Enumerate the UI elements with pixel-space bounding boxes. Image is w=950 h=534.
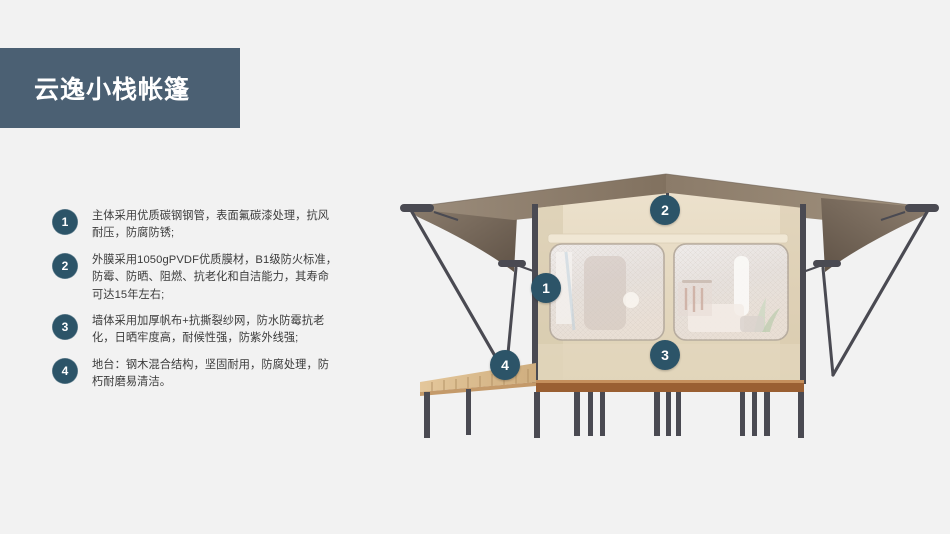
marker-3: 3 — [650, 340, 680, 370]
marker-2: 2 — [650, 195, 680, 225]
platform-legs — [424, 389, 804, 438]
list-item: 1 主体采用优质碳钢钢管，表面氟碳漆处理，抗风耐压，防腐防锈; — [52, 208, 352, 243]
feature-badge-4: 4 — [52, 358, 78, 384]
list-item: 2 外膜采用1050gPVDF优质膜材，B1级防火标准，防霉、防晒、阻燃、抗老化… — [52, 252, 352, 304]
list-item: 3 墙体采用加厚帆布+抗撕裂纱网，防水防霉抗老化，日晒牢度高，耐候性强，防紫外线… — [52, 313, 352, 348]
feature-text-1: 主体采用优质碳钢钢管，表面氟碳漆处理，抗风耐压，防腐防锈; — [92, 208, 340, 243]
feature-text-2: 外膜采用1050gPVDF优质膜材，B1级防火标准，防霉、防晒、阻燃、抗老化和自… — [92, 252, 340, 304]
window-left — [550, 244, 664, 340]
feature-text-3: 墙体采用加厚帆布+抗撕裂纱网，防水防霉抗老化，日晒牢度高，耐候性强，防紫外线强; — [92, 313, 340, 348]
feature-list: 1 主体采用优质碳钢钢管，表面氟碳漆处理，抗风耐压，防腐防锈; 2 外膜采用10… — [52, 208, 352, 401]
feature-badge-3: 3 — [52, 314, 78, 340]
marker-1: 1 — [531, 273, 561, 303]
corner-post-right — [800, 204, 806, 384]
feature-text-4: 地台：钢木混合结构，坚固耐用，防腐处理，防朽耐磨易清洁。 — [92, 357, 340, 392]
page-root: 云逸小栈帐篷 1 主体采用优质碳钢钢管，表面氟碳漆处理，抗风耐压，防腐防锈; 2… — [0, 0, 950, 534]
window-right — [674, 244, 788, 340]
page-title: 云逸小栈帐篷 — [34, 70, 190, 106]
feature-badge-2: 2 — [52, 253, 78, 279]
feature-badge-1: 1 — [52, 209, 78, 235]
marker-4: 4 — [490, 350, 520, 380]
platform-edge — [536, 382, 804, 392]
window-valance — [548, 234, 788, 243]
title-banner: 云逸小栈帐篷 — [0, 48, 240, 128]
list-item: 4 地台：钢木混合结构，坚固耐用，防腐处理，防朽耐磨易清洁。 — [52, 357, 352, 392]
